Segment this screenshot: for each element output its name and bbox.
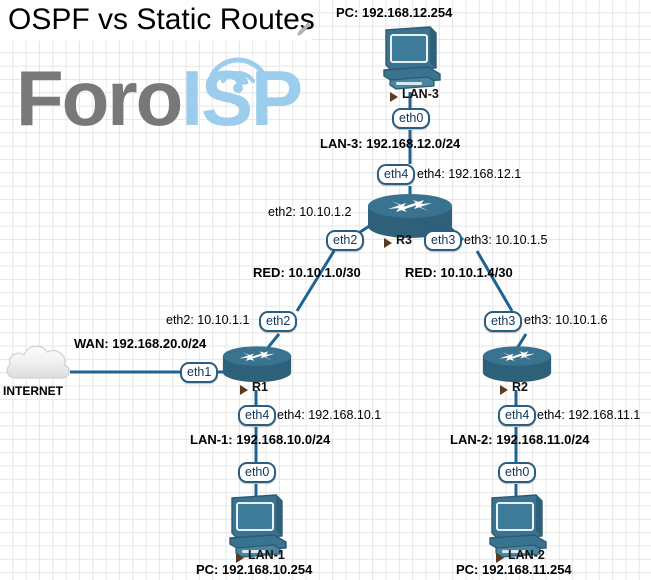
r3-eth3-badge[interactable]: eth3 — [424, 230, 462, 251]
pc-lan3-name: LAN-3 — [402, 87, 439, 101]
title-plate: OSPF vs Static Routes — [0, 0, 311, 41]
red-right-network-label: RED: 10.10.1.4/30 — [405, 266, 513, 280]
r2-eth3-ip-label: eth3: 10.10.1.6 — [524, 313, 607, 327]
pencil-cursor-icon — [297, 22, 311, 36]
pc-lan2-eth0-badge[interactable]: eth0 — [498, 462, 536, 483]
r3-name-marker — [384, 238, 392, 248]
wifi-signal-icon — [206, 47, 270, 93]
lan2-network-label: LAN-2: 192.168.11.0/24 — [450, 433, 589, 447]
r2-name-marker — [500, 385, 508, 395]
r3-eth4-ip-label: eth4: 192.168.12.1 — [417, 167, 521, 181]
pc-lan1-ip-label: PC: 192.168.10.254 — [196, 563, 312, 577]
r3-eth3-ip-label: eth3: 10.10.1.5 — [464, 233, 547, 247]
lan1-network-label: LAN-1: 192.168.10.0/24 — [190, 433, 330, 447]
pc-lan1-eth0-badge[interactable]: eth0 — [238, 462, 276, 483]
lan3-network-label: LAN-3: 192.168.12.0/24 — [320, 137, 460, 151]
r1-eth2-badge[interactable]: eth2 — [259, 311, 297, 332]
pc-lan1-name: LAN-1 — [248, 548, 285, 562]
watermark-foro-text: Foro — [16, 54, 181, 142]
pc-lan2-ip-label: PC: 192.168.11.254 — [456, 563, 572, 577]
wan-network-label: WAN: 192.168.20.0/24 — [74, 337, 206, 351]
page-title: OSPF vs Static Routes — [8, 1, 315, 39]
r3-name: R3 — [396, 233, 412, 247]
internet-label: INTERNET — [3, 384, 63, 398]
internet-cloud-icon[interactable] — [3, 340, 75, 386]
r1-eth4-ip-label: eth4: 192.168.10.1 — [277, 408, 381, 422]
r1-name: R1 — [252, 380, 268, 394]
pc-lan3-ip-label: PC: 192.168.12.254 — [336, 6, 452, 20]
r1-eth1-badge[interactable]: eth1 — [180, 362, 218, 383]
pc-lan3-eth0-badge[interactable]: eth0 — [392, 108, 430, 129]
r2-eth4-ip-label: eth4: 192.168.11.1 — [537, 408, 640, 422]
r2-eth3-badge[interactable]: eth3 — [484, 311, 522, 332]
pc-lan2-name: LAN-2 — [508, 548, 545, 562]
r3-eth2-ip-label: eth2: 10.10.1.2 — [268, 205, 351, 219]
r1-eth2-ip-label: eth2: 10.10.1.1 — [166, 313, 249, 327]
network-diagram-canvas: ForoISP OSPF vs Static Routes PC: 192.16… — [0, 0, 651, 580]
r3-eth2-badge[interactable]: eth2 — [326, 230, 364, 251]
r1-name-marker — [240, 385, 248, 395]
r2-eth4-badge[interactable]: eth4 — [498, 405, 536, 426]
pc-lan3-icon[interactable] — [378, 24, 442, 92]
red-left-network-label: RED: 10.10.1.0/30 — [253, 266, 361, 280]
r2-name: R2 — [512, 380, 528, 394]
r3-eth4-badge[interactable]: eth4 — [377, 164, 415, 185]
pc-lan3-name-marker — [390, 92, 398, 102]
r1-eth4-badge[interactable]: eth4 — [238, 405, 276, 426]
